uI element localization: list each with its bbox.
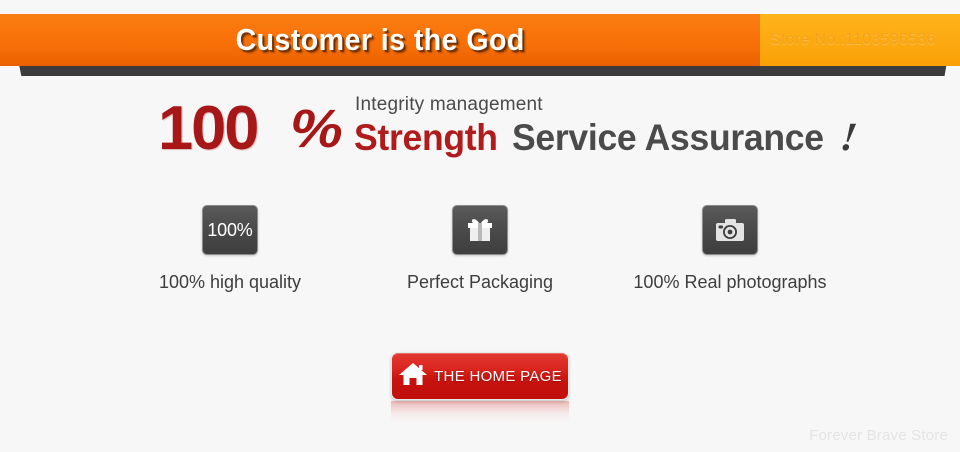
home-button-reflection <box>391 401 569 423</box>
home-button-area: THE HOME PAGE <box>0 352 960 423</box>
headline-integrity-text: Integrity management <box>355 94 543 116</box>
gift-box-icon <box>452 205 508 255</box>
house-icon <box>398 360 428 393</box>
home-page-button[interactable]: THE HOME PAGE <box>391 352 569 400</box>
headline-strength-text: Strength <box>354 118 498 158</box>
feature-item-quality: 100% 100% high quality <box>105 205 355 293</box>
banner-ribbon: Customer is the God Store No.:1103596536 <box>0 14 960 66</box>
headline-service-text: Service Assurance <box>512 118 824 158</box>
camera-icon <box>702 205 758 255</box>
banner-title: Customer is the God <box>235 22 524 58</box>
feature-row: 100% 100% high quality Perfect Packaging <box>0 205 960 293</box>
banner-right-section: Store No.:1103596536 <box>760 14 960 66</box>
feature-label-quality: 100% high quality <box>159 272 301 293</box>
headline-exclamation: ! <box>839 117 860 157</box>
headline-inner: 100 % Integrity management Strength Serv… <box>150 92 810 172</box>
feature-item-photographs: 100% Real photographs <box>605 205 855 293</box>
headline-second-row: Strength Service Assurance ! <box>354 117 857 158</box>
headline-block: 100 % Integrity management Strength Serv… <box>0 92 960 172</box>
headline-percent-sign: % <box>290 102 343 156</box>
home-button-label: THE HOME PAGE <box>434 368 562 385</box>
banner-left-section: Customer is the God <box>0 14 760 66</box>
percent-badge-icon: 100% <box>202 205 258 255</box>
store-number: Store No.:1103596536 <box>770 31 936 49</box>
store-watermark: Forever Brave Store <box>809 427 948 444</box>
promo-banner: Customer is the God Store No.:1103596536 <box>0 14 960 72</box>
feature-label-photographs: 100% Real photographs <box>633 272 826 293</box>
headline-number: 100 <box>158 98 257 160</box>
feature-item-packaging: Perfect Packaging <box>355 205 605 293</box>
feature-label-packaging: Perfect Packaging <box>407 272 553 293</box>
percent-badge-label: 100% <box>207 220 252 241</box>
